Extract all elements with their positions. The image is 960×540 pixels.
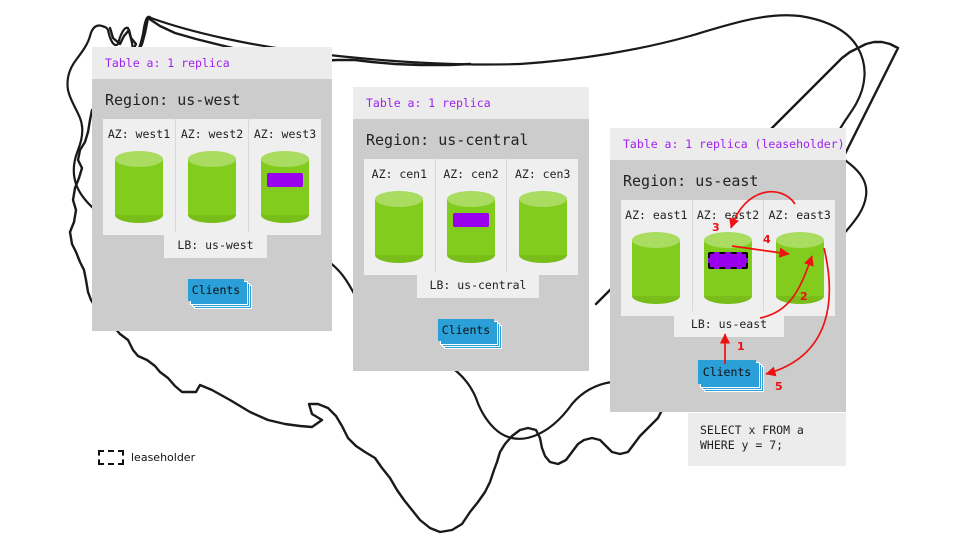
region-title-us-east: Region: us-east (610, 160, 846, 200)
region-title-us-central: Region: us-central (353, 119, 589, 159)
az-label-cen3: AZ: cen3 (515, 167, 570, 181)
legend-leaseholder: leaseholder (98, 450, 195, 465)
az-row-us-central: AZ: cen1 AZ: cen2 AZ: cen3 (364, 159, 578, 275)
az-label-east2: AZ: east2 (697, 208, 759, 222)
cylinder-body (519, 199, 567, 255)
region-panel-us-east: Table a: 1 replica (leaseholder) Region:… (610, 128, 846, 412)
clients-label-us-central[interactable]: Clients (438, 319, 494, 341)
az-row-us-west: AZ: west1 AZ: west2 AZ: west3 (103, 119, 321, 235)
node-cylinder-cen3[interactable] (519, 191, 567, 263)
cylinder-body (776, 240, 824, 296)
az-label-cen2: AZ: cen2 (443, 167, 498, 181)
sql-query-box: SELECT x FROM a WHERE y = 7; (688, 413, 846, 466)
clients-us-central[interactable]: Clients (438, 319, 500, 349)
cylinder-top (776, 232, 824, 248)
az-label-west1: AZ: west1 (108, 127, 170, 141)
node-cylinder-west2[interactable] (188, 151, 236, 223)
region-panel-us-west: Table a: 1 replica Region: us-west AZ: w… (92, 47, 332, 331)
clients-label-us-west[interactable]: Clients (188, 279, 244, 301)
az-row-us-east: AZ: east1 AZ: east2 AZ: east3 (621, 200, 835, 316)
node-cylinder-east3[interactable] (776, 232, 824, 304)
load-balancer-us-east[interactable]: LB: us-east (674, 311, 784, 337)
diagram-canvas: Table a: 1 replica Region: us-west AZ: w… (0, 0, 960, 540)
load-balancer-us-west[interactable]: LB: us-west (164, 232, 267, 258)
clients-us-west[interactable]: Clients (188, 279, 250, 309)
node-cylinder-cen1[interactable] (375, 191, 423, 263)
az-label-east1: AZ: east1 (625, 208, 687, 222)
az-card-west2[interactable]: AZ: west2 (176, 119, 249, 235)
legend-label: leaseholder (131, 451, 195, 464)
cylinder-top (188, 151, 236, 167)
cylinder-top (261, 151, 309, 167)
dashed-rect-icon (98, 450, 124, 465)
clients-us-east[interactable]: Clients (698, 360, 764, 392)
replica-marker-cen2 (453, 213, 489, 227)
az-card-west1[interactable]: AZ: west1 (103, 119, 176, 235)
region-title-us-west: Region: us-west (92, 79, 332, 119)
load-balancer-us-central[interactable]: LB: us-central (417, 272, 539, 298)
az-label-west2: AZ: west2 (181, 127, 243, 141)
az-card-cen1[interactable]: AZ: cen1 (364, 159, 436, 275)
az-card-west3[interactable]: AZ: west3 (249, 119, 321, 235)
cylinder-body (115, 159, 163, 215)
node-cylinder-east1[interactable] (632, 232, 680, 304)
cylinder-body (447, 199, 495, 255)
az-card-cen2[interactable]: AZ: cen2 (436, 159, 508, 275)
az-card-east1[interactable]: AZ: east1 (621, 200, 693, 316)
az-label-cen1: AZ: cen1 (372, 167, 427, 181)
cylinder-top (704, 232, 752, 248)
cylinder-top (519, 191, 567, 207)
clients-label-us-east[interactable]: Clients (698, 360, 756, 384)
cylinder-body (375, 199, 423, 255)
az-label-east3: AZ: east3 (769, 208, 831, 222)
cylinder-top (447, 191, 495, 207)
az-card-cen3[interactable]: AZ: cen3 (507, 159, 578, 275)
cylinder-body (261, 159, 309, 215)
cylinder-body (632, 240, 680, 296)
cylinder-body (188, 159, 236, 215)
region-panel-us-central: Table a: 1 replica Region: us-central AZ… (353, 87, 589, 371)
leaseholder-marker-east2 (708, 252, 748, 269)
cylinder-top (375, 191, 423, 207)
node-cylinder-cen2[interactable] (447, 191, 495, 263)
region-header-us-east: Table a: 1 replica (leaseholder) (610, 128, 846, 160)
node-cylinder-west3[interactable] (261, 151, 309, 223)
az-label-west3: AZ: west3 (254, 127, 316, 141)
cylinder-top (632, 232, 680, 248)
cylinder-top (115, 151, 163, 167)
az-card-east2[interactable]: AZ: east2 (693, 200, 765, 316)
node-cylinder-west1[interactable] (115, 151, 163, 223)
replica-marker-west3 (267, 173, 303, 187)
az-card-east3[interactable]: AZ: east3 (764, 200, 835, 316)
region-header-us-west: Table a: 1 replica (92, 47, 332, 79)
region-header-us-central: Table a: 1 replica (353, 87, 589, 119)
node-cylinder-east2[interactable] (704, 232, 752, 304)
